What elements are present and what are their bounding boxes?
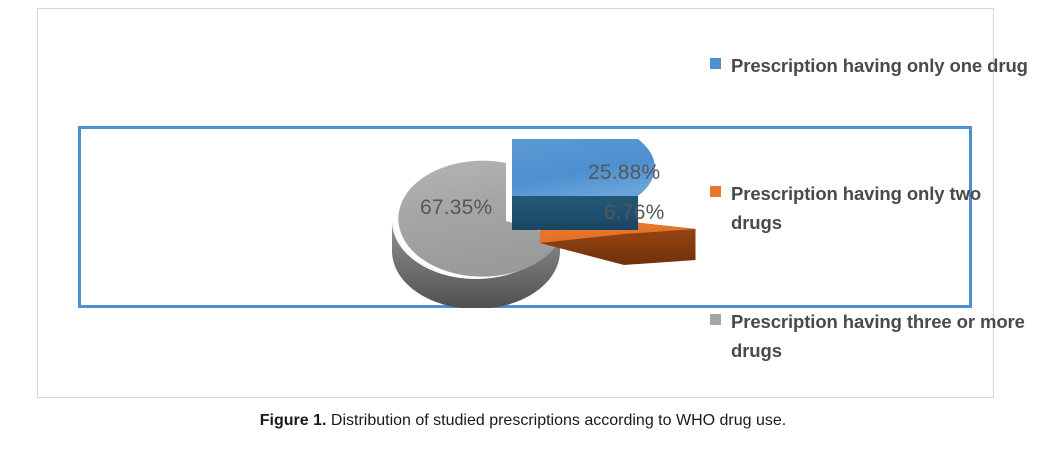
legend-item-two-drugs[interactable]: Prescription having only two drugs xyxy=(710,179,1028,237)
pie-label-two-drugs: 6.76% xyxy=(604,201,665,225)
square-marker-orange-icon xyxy=(710,186,721,197)
square-marker-blue-icon xyxy=(710,58,721,69)
legend-item-three-or-more-drugs[interactable]: Prescription having three or more drugs xyxy=(710,307,1028,365)
pie-chart-3d[interactable]: 67.35% 25.88% 6.76% xyxy=(376,133,706,308)
legend-label-one-drug: Prescription having only one drug xyxy=(731,51,1028,80)
figure-frame: 67.35% 25.88% 6.76% Prescription having … xyxy=(37,8,994,398)
legend-label-three-or-more-drugs: Prescription having three or more drugs xyxy=(731,307,1028,365)
figure-caption-text: Distribution of studied prescriptions ac… xyxy=(326,412,786,429)
legend-item-one-drug[interactable]: Prescription having only one drug xyxy=(710,51,1028,80)
pie-label-three-or-more-drugs: 67.35% xyxy=(420,196,492,220)
pie-label-one-drug: 25.88% xyxy=(588,161,660,185)
figure-caption: Figure 1. Distribution of studied prescr… xyxy=(0,412,1046,430)
figure-caption-label: Figure 1. xyxy=(260,412,327,429)
chart-legend: Prescription having only one drug Prescr… xyxy=(710,33,1032,379)
square-marker-gray-icon xyxy=(710,314,721,325)
legend-label-two-drugs: Prescription having only two drugs xyxy=(731,179,1028,237)
